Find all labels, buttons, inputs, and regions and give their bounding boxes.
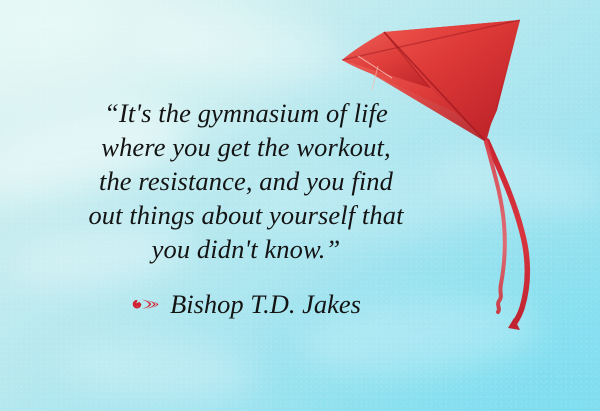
kite-spar-diagonal — [384, 32, 430, 88]
kite-sail-left — [342, 32, 452, 88]
quote-line: out things about yourself that — [0, 198, 492, 232]
quote-line: the resistance, and you find — [0, 164, 492, 198]
quote-text: “It's the gymnasium of life where you ge… — [0, 96, 600, 266]
kite-spar-horizontal — [342, 20, 520, 60]
quote-line: “It's the gymnasium of life — [0, 96, 492, 130]
quote-poster: “It's the gymnasium of life where you ge… — [0, 0, 600, 411]
quote-line: where you get the workout, — [0, 130, 492, 164]
kite-tail-tip — [508, 318, 520, 330]
kite-bridle-string — [358, 56, 392, 78]
quote-line: you didn't know.” — [0, 232, 492, 266]
author-name: Bishop T.D. Jakes — [170, 289, 361, 319]
attribution-row: Bishop T.D. Jakes — [0, 289, 600, 319]
red-swirl-flourish-icon — [131, 294, 161, 314]
cloud-wisp — [137, 7, 352, 89]
cloud-wisp — [58, 333, 262, 405]
kite-sail-upper — [384, 20, 520, 88]
kite-bridle-string — [372, 66, 378, 90]
